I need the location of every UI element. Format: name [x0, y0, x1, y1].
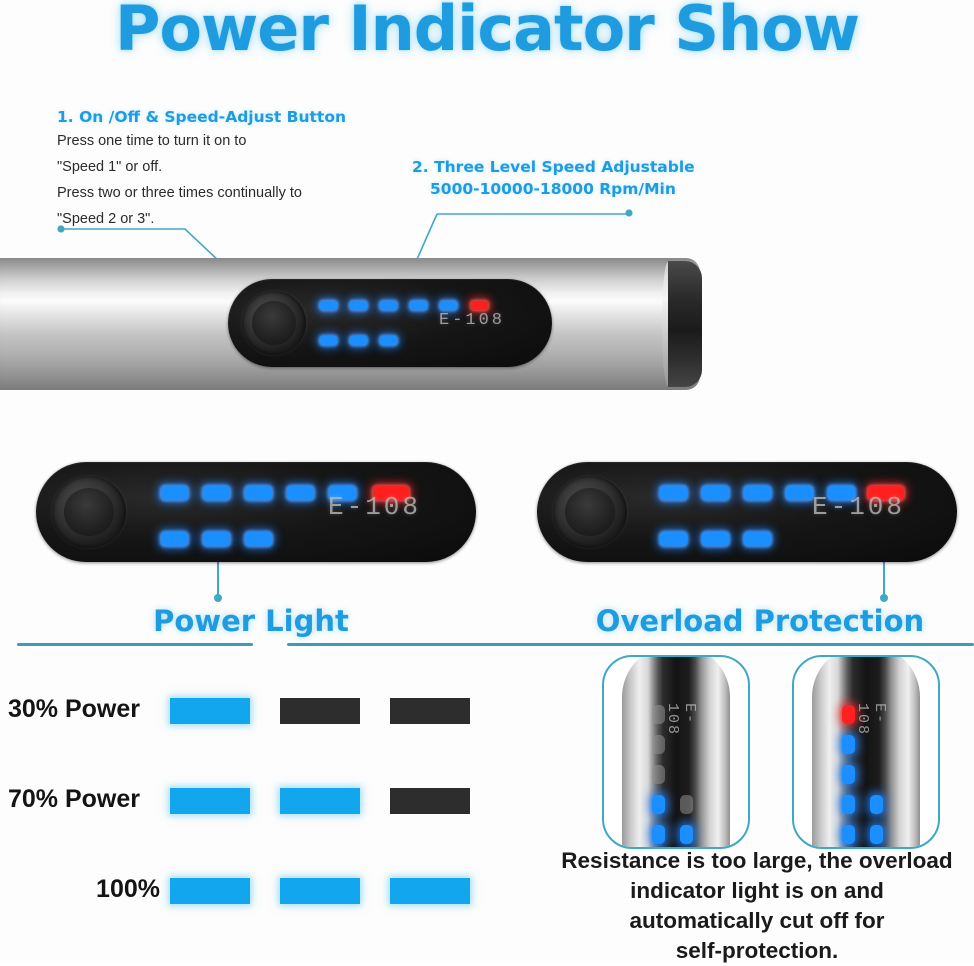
- control-panel-main: E-108: [228, 279, 552, 367]
- model-label-left: E-108: [328, 492, 421, 522]
- overload-photo-triggered: E-108: [792, 655, 940, 849]
- pen-vertical-overload: E-108: [812, 655, 920, 849]
- ol-a-model-label: E-108: [664, 703, 698, 736]
- power-bar-30-2: [280, 698, 360, 724]
- led-top-1: [320, 301, 337, 310]
- led-left-top-4: [287, 486, 314, 500]
- power-bar-70-3: [390, 788, 470, 814]
- ol-a-led-4: [652, 795, 665, 814]
- callout-1-line-4: "Speed 2 or 3".: [57, 209, 346, 230]
- callout-1-line-1: Press one time to turn it on to: [57, 131, 346, 152]
- led-top-4: [410, 301, 427, 310]
- overload-photo-normal: E-108: [602, 655, 750, 849]
- led-right-top-3: [744, 486, 771, 500]
- callout-1-heading: 1. On /Off & Speed-Adjust Button: [57, 108, 346, 126]
- led-right-bottom-2: [702, 532, 729, 546]
- ol-b-led-2: [842, 735, 855, 754]
- power-bar-100-2: [280, 878, 360, 904]
- led-right-top-2: [702, 486, 729, 500]
- ol-b-led-4: [842, 795, 855, 814]
- section-heading-power-light: Power Light: [16, 604, 486, 638]
- led-top-3: [380, 301, 397, 310]
- led-bottom-3: [380, 336, 397, 345]
- divider-overload: [287, 643, 974, 646]
- divider-power-light: [17, 643, 253, 646]
- callout-1-line-3: Press two or three times continually to: [57, 183, 346, 204]
- led-bottom-2: [350, 336, 367, 345]
- power-bar-70-2: [280, 788, 360, 814]
- overload-caption: Resistance is too large, the overload in…: [540, 846, 974, 966]
- ol-b-led-7: [870, 795, 883, 814]
- power-bar-30-3: [390, 698, 470, 724]
- led-left-bottom-2: [203, 532, 230, 546]
- led-left-top-2: [203, 486, 230, 500]
- overload-caption-line-2: indicator light is on and: [540, 876, 974, 906]
- ol-a-led-8: [680, 825, 693, 844]
- power-bar-70-1: [170, 788, 250, 814]
- power-row-label-30: 30% Power: [8, 693, 160, 725]
- table-row: 100%: [0, 873, 500, 913]
- callout-2-heading-line-1: 2. Three Level Speed Adjustable: [412, 156, 695, 178]
- pen-end-cap: [668, 261, 702, 387]
- callout-on-off-speed-button: 1. On /Off & Speed-Adjust Button Press o…: [57, 108, 346, 230]
- led-right-top-4: [786, 486, 813, 500]
- led-left-top-3: [245, 486, 272, 500]
- page-title: Power Indicator Show: [0, 0, 974, 65]
- led-right-bottom-3: [744, 532, 771, 546]
- section-heading-overload: Overload Protection: [560, 604, 960, 638]
- led-left-bottom-1: [161, 532, 188, 546]
- table-row: 70% Power: [0, 783, 500, 823]
- callout-1-line-2: "Speed 1" or off.: [57, 157, 346, 178]
- power-bar-30-1: [170, 698, 250, 724]
- led-right-bottom-1: [660, 532, 687, 546]
- model-label-main: E-108: [439, 311, 505, 330]
- power-bar-100-1: [170, 878, 250, 904]
- callout-2-heading-line-2: 5000-10000-18000 Rpm/Min: [412, 178, 695, 200]
- ol-b-led-5: [842, 825, 855, 844]
- overload-caption-line-1: Resistance is too large, the overload: [540, 846, 974, 876]
- power-speed-button-right[interactable]: [553, 476, 627, 548]
- led-top-5: [440, 301, 457, 310]
- ol-a-led-2: [652, 735, 665, 754]
- control-panel-overload: E-108: [537, 462, 957, 562]
- model-label-right: E-108: [812, 492, 905, 522]
- ol-a-led-7: [680, 795, 693, 814]
- power-row-label-100: 100%: [8, 873, 160, 905]
- power-speed-button[interactable]: [242, 291, 306, 355]
- power-speed-button-left[interactable]: [52, 476, 126, 548]
- led-left-top-1: [161, 486, 188, 500]
- ol-b-model-label: E-108: [854, 703, 888, 736]
- pen-vertical-normal: E-108: [622, 655, 730, 849]
- control-panel-power-light: E-108: [36, 462, 476, 562]
- power-bar-100-3: [390, 878, 470, 904]
- led-right-top-1: [660, 486, 687, 500]
- power-row-label-70: 70% Power: [8, 783, 160, 815]
- led-left-bottom-3: [245, 532, 272, 546]
- ol-b-led-3: [842, 765, 855, 784]
- ol-a-led-5: [652, 825, 665, 844]
- overload-caption-line-3: automatically cut off for: [540, 906, 974, 936]
- led-bottom-1: [320, 336, 337, 345]
- callout-three-level-speed: 2. Three Level Speed Adjustable 5000-100…: [412, 156, 695, 200]
- ol-b-led-8: [870, 825, 883, 844]
- overload-caption-line-4: self-protection.: [540, 936, 974, 966]
- table-row: 30% Power: [0, 693, 500, 733]
- ol-a-led-3: [652, 765, 665, 784]
- led-top-2: [350, 301, 367, 310]
- led-overload-indicator: [471, 301, 488, 310]
